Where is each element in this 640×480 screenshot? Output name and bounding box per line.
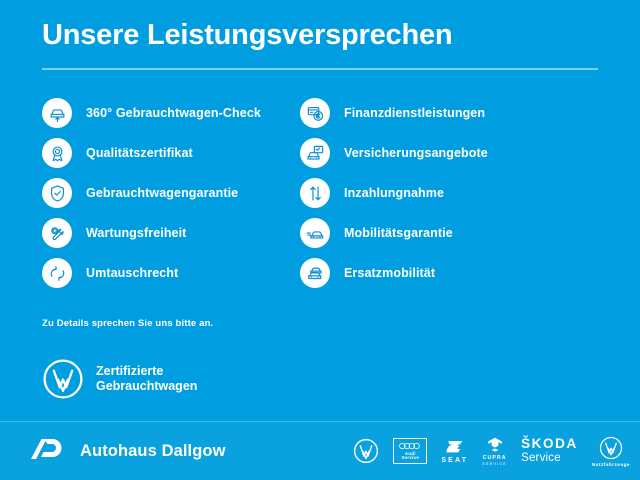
brand-logos: AudiService SEAT CUPRA SERVICE ŠKODA	[353, 436, 640, 467]
money-euro-icon	[300, 98, 330, 128]
benefit-label: 360° Gebrauchtwagen-Check	[86, 106, 261, 120]
brand-skoda-service[interactable]: ŠKODA Service	[521, 437, 578, 465]
cupra-service-label: SERVICE	[482, 462, 507, 466]
title-divider	[42, 68, 598, 70]
benefit-item[interactable]: Qualitätszertifikat	[42, 138, 290, 168]
benefit-label: Inzahlungnahme	[344, 186, 444, 200]
header: Unsere Leistungsversprechen	[42, 18, 598, 70]
brand-vw[interactable]	[353, 438, 379, 464]
seat-label: SEAT	[441, 457, 468, 464]
benefits-column-right: Finanzdienstleistungen Versicherungsange…	[290, 98, 580, 288]
skoda-service-label: Service	[521, 452, 561, 465]
benefit-label: Finanzdienstleistungen	[344, 106, 485, 120]
promo-panel: Unsere Leistungsversprechen 360° Gebrauc…	[0, 0, 640, 480]
benefit-item[interactable]: Umtauschrecht	[42, 258, 290, 288]
up-down-arrows-icon	[300, 178, 330, 208]
benefit-item[interactable]: Gebrauchtwagengarantie	[42, 178, 290, 208]
certified-label: Zertifizierte Gebrauchtwagen	[96, 364, 197, 394]
benefit-item[interactable]: Finanzdienstleistungen	[300, 98, 580, 128]
benefit-label: Wartungsfreiheit	[86, 226, 186, 240]
benefits-grid: 360° Gebrauchtwagen-Check Qualitätszerti…	[0, 98, 640, 288]
dealer-name: Autohaus Dallgow	[80, 442, 226, 461]
brand-cupra-service[interactable]: CUPRA SERVICE	[482, 437, 507, 466]
benefit-label: Mobilitätsgarantie	[344, 226, 453, 240]
two-cars-icon	[300, 258, 330, 288]
brand-audi-service[interactable]: AudiService	[393, 438, 427, 465]
vw-nutzfahrzeuge-label: Nutzfahrzeuge	[592, 462, 630, 467]
benefit-item[interactable]: Ersatzmobilität	[300, 258, 580, 288]
skoda-label: ŠKODA	[521, 437, 578, 451]
cupra-label: CUPRA	[483, 455, 507, 461]
car-motion-icon	[300, 218, 330, 248]
certified-line-2: Gebrauchtwagen	[96, 379, 197, 394]
car-check-icon	[42, 98, 72, 128]
benefit-item[interactable]: Mobilitätsgarantie	[300, 218, 580, 248]
benefit-label: Ersatzmobilität	[344, 266, 435, 280]
benefit-label: Gebrauchtwagengarantie	[86, 186, 238, 200]
page-title: Unsere Leistungsversprechen	[42, 18, 598, 52]
benefit-item[interactable]: Wartungsfreiheit	[42, 218, 290, 248]
car-document-icon	[300, 138, 330, 168]
benefit-item[interactable]: 360° Gebrauchtwagen-Check	[42, 98, 290, 128]
shield-check-icon	[42, 178, 72, 208]
ad-monogram-icon	[28, 436, 68, 467]
certified-line-1: Zertifizierte	[96, 364, 197, 379]
benefit-item[interactable]: Inzahlungnahme	[300, 178, 580, 208]
benefit-label: Umtauschrecht	[86, 266, 178, 280]
award-rosette-icon	[42, 138, 72, 168]
brand-seat[interactable]: SEAT	[441, 439, 468, 464]
certified-used-cars-block: Zertifizierte Gebrauchtwagen	[42, 358, 197, 400]
footer-bar: Autohaus Dallgow AudiService	[0, 422, 640, 480]
vw-roundel-icon	[42, 358, 84, 400]
benefits-column-left: 360° Gebrauchtwagen-Check Qualitätszerti…	[0, 98, 290, 288]
benefit-label: Versicherungsangebote	[344, 146, 488, 160]
wrench-gear-icon	[42, 218, 72, 248]
dealer-branding[interactable]: Autohaus Dallgow	[0, 436, 226, 467]
brand-vw-nutzfahrzeuge[interactable]: Nutzfahrzeuge	[592, 436, 630, 467]
audi-service-label: AudiService	[401, 452, 419, 461]
benefit-label: Qualitätszertifikat	[86, 146, 193, 160]
benefit-item[interactable]: Versicherungsangebote	[300, 138, 580, 168]
details-note: Zu Details sprechen Sie uns bitte an.	[42, 318, 213, 329]
exchange-arrows-icon	[42, 258, 72, 288]
